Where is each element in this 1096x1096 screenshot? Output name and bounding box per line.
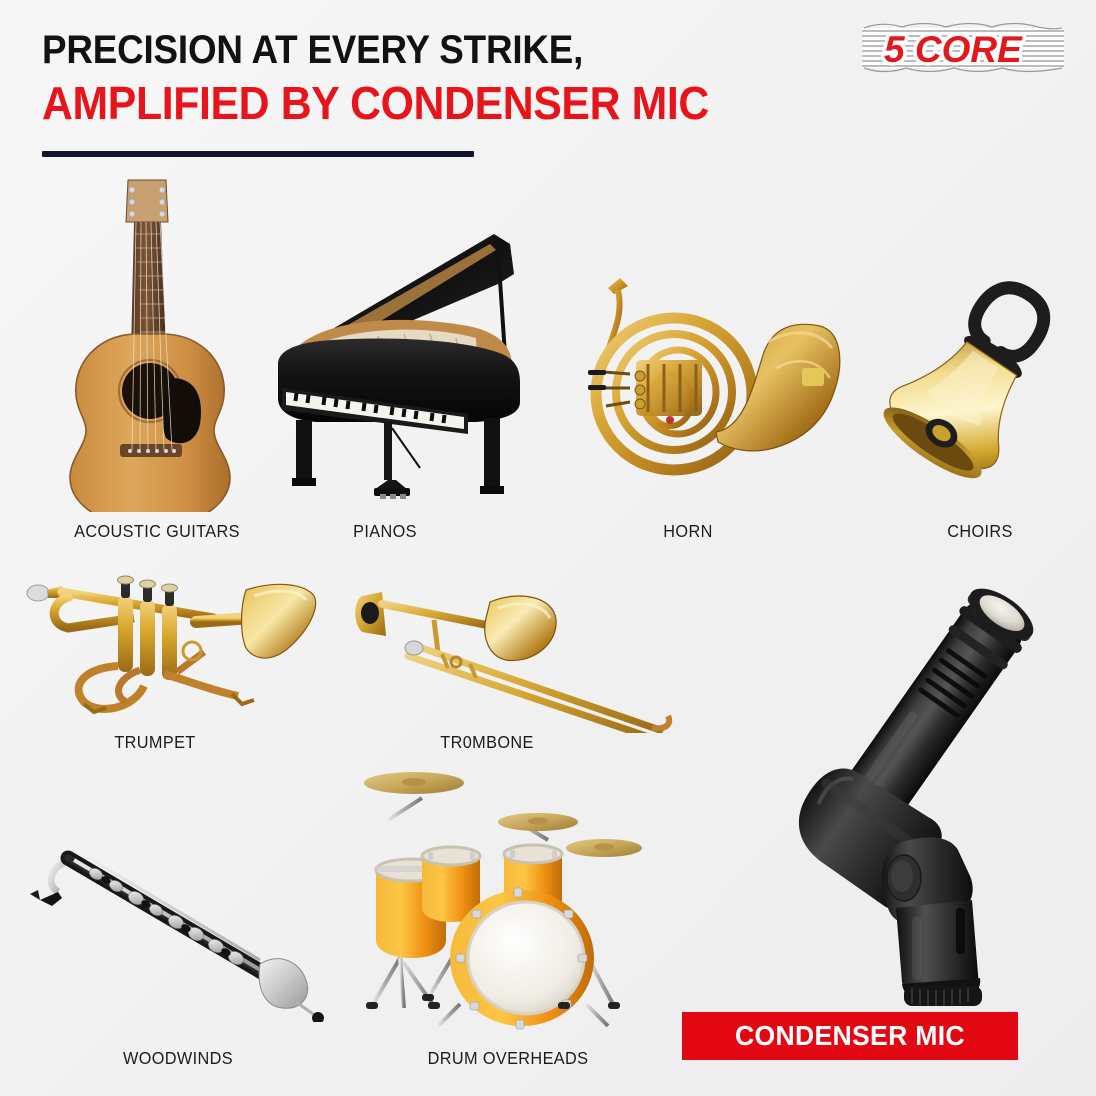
poster-canvas: PRECISION AT EVERY STRIKE, AMPLIFIED BY … (0, 0, 1096, 1096)
trombone-image (342, 578, 682, 733)
headline-line-2: AMPLIFIED BY CONDENSER MIC (42, 78, 972, 128)
trumpet-image (14, 562, 324, 722)
grand-piano-image (262, 222, 547, 512)
caption-trumpet: TRUMPET (48, 732, 262, 753)
caption-trombone: TR0MBONE (380, 732, 594, 753)
svg-text:5 CORE: 5 CORE (884, 29, 1023, 70)
condenser-microphone-image (666, 556, 1096, 1016)
condenser-mic-banner: CONDENSER MIC (682, 1012, 1018, 1060)
headline-underline-rule (42, 151, 474, 157)
headline-line-1: PRECISION AT EVERY STRIKE, (42, 28, 962, 72)
banner-label: CONDENSER MIC (735, 1020, 965, 1052)
bass-clarinet-image (24, 842, 324, 1022)
drum-kit-image (342, 758, 662, 1043)
acoustic-guitar-image (62, 172, 287, 512)
caption-choirs: CHOIRS (887, 521, 1073, 542)
caption-pianos: PIANOS (292, 521, 478, 542)
caption-acoustic-guitars: ACOUSTIC GUITARS (31, 521, 282, 542)
logo-wordmark: 5 CORE 5 CORE (884, 29, 1023, 70)
handbell-image (878, 278, 1083, 510)
caption-woodwinds: WOODWINDS (48, 1048, 308, 1069)
brand-logo: 5 CORE 5 CORE (862, 22, 1064, 74)
french-horn-image (566, 272, 846, 507)
caption-drum-overheads: DRUM OVERHEADS (378, 1048, 638, 1069)
caption-horn: HORN (595, 521, 781, 542)
